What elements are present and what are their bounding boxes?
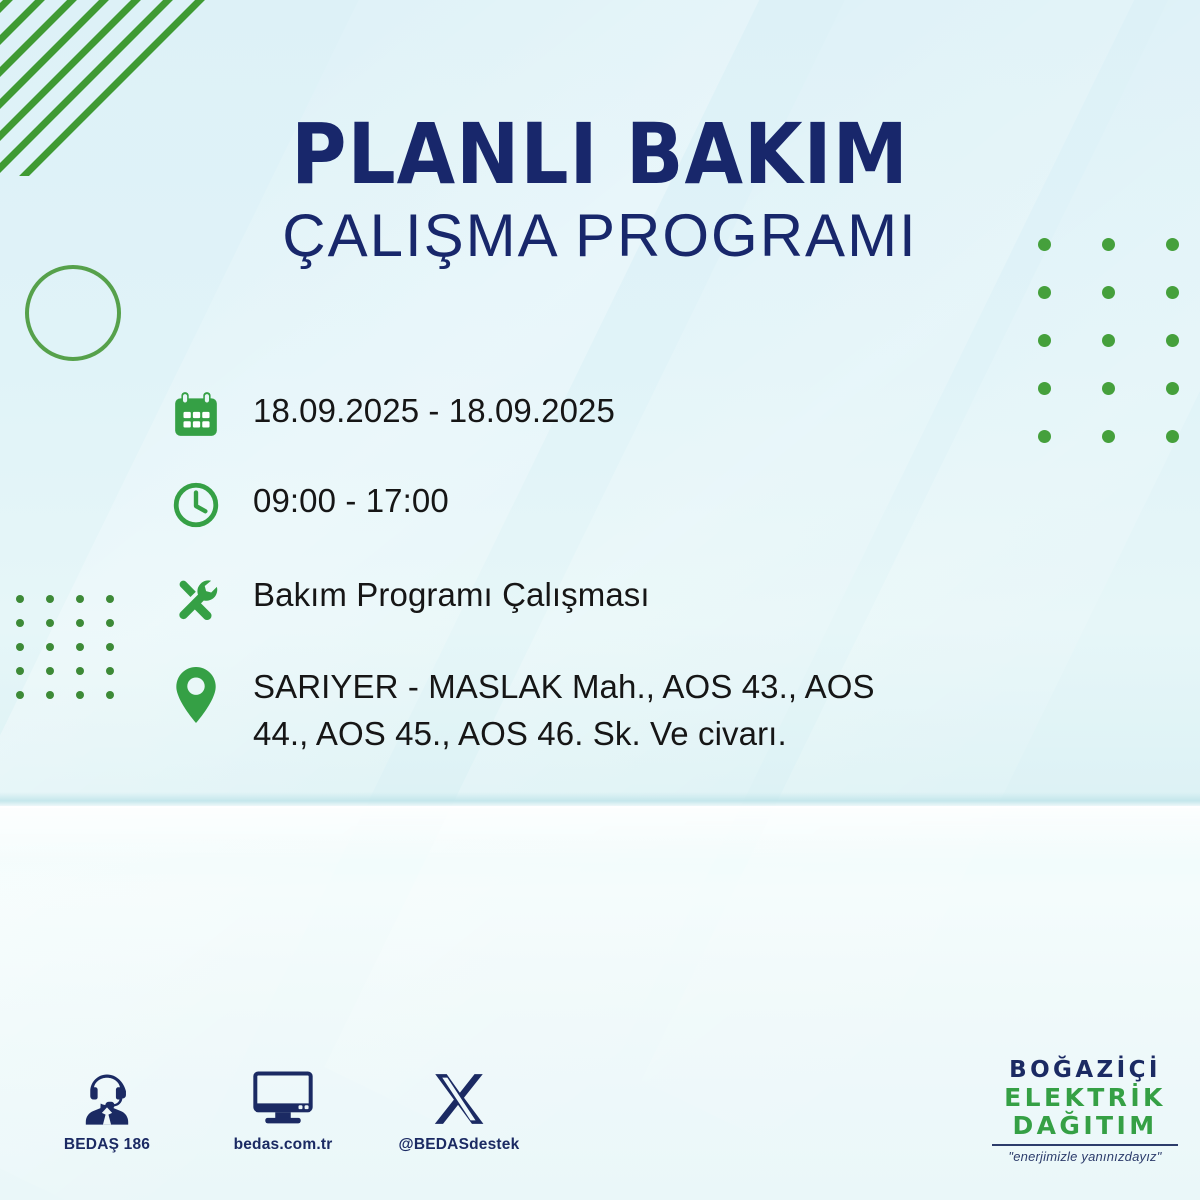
monitor-icon — [222, 1068, 344, 1130]
background-horizon-band — [0, 792, 1200, 808]
info-row-worktype-value: Bakım Programı Çalışması — [227, 572, 650, 619]
location-pin-icon — [165, 664, 227, 724]
info-row-date-value: 18.09.2025 - 18.09.2025 — [227, 388, 615, 435]
support-agent-headset-icon — [46, 1068, 168, 1130]
circle-outline-decoration — [25, 265, 121, 361]
brand-line-elektrik: ELEKTRİK — [978, 1084, 1192, 1112]
info-list: 18.09.2025 - 18.09.2025 09:00 - 17:00 — [165, 388, 965, 792]
contact-phone-label: BEDAŞ 186 — [46, 1136, 168, 1154]
info-row-location: SARIYER - MASLAK Mah., AOS 43., AOS 44.,… — [165, 664, 965, 758]
footer-contacts: BEDAŞ 186 bedas.com.tr @B — [46, 1068, 520, 1154]
info-row-date: 18.09.2025 - 18.09.2025 — [165, 388, 965, 440]
brand-logo: BOĞAZİÇİ ELEKTRİK DAĞITIM "enerjimizle y… — [978, 1058, 1192, 1164]
poster-title-block: PLANLI BAKIM ÇALIŞMA PROGRAMI — [0, 112, 1200, 267]
dot-grid-right-decoration — [1038, 238, 1200, 478]
info-row-time: 09:00 - 17:00 — [165, 478, 965, 530]
poster-canvas: PLANLI BAKIM ÇALIŞMA PROGRAMI — [0, 0, 1200, 1200]
contact-x-handle-label: @BEDASdestek — [398, 1136, 520, 1154]
contact-website[interactable]: bedas.com.tr — [222, 1068, 344, 1154]
page-title: PLANLI BAKIM — [0, 112, 1200, 198]
contact-website-label: bedas.com.tr — [222, 1136, 344, 1154]
brand-tagline: "enerjimizle yanınızdayız" — [978, 1149, 1192, 1164]
page-subtitle: ÇALIŞMA PROGRAMI — [0, 204, 1200, 267]
brand-line-dagitim: DAĞITIM — [978, 1112, 1192, 1140]
clock-icon — [165, 478, 227, 530]
x-twitter-icon — [398, 1068, 520, 1130]
background-horizon-glow — [0, 806, 1200, 866]
brand-divider — [992, 1144, 1178, 1146]
dot-grid-left-decoration — [16, 595, 136, 715]
contact-phone[interactable]: BEDAŞ 186 — [46, 1068, 168, 1154]
calendar-icon — [165, 388, 227, 440]
brand-line-bogazici: BOĞAZİÇİ — [978, 1058, 1192, 1084]
contact-x-handle[interactable]: @BEDASdestek — [398, 1068, 520, 1154]
tools-icon — [165, 572, 227, 624]
info-row-location-value: SARIYER - MASLAK Mah., AOS 43., AOS 44.,… — [227, 664, 917, 758]
info-row-time-value: 09:00 - 17:00 — [227, 478, 449, 525]
info-row-worktype: Bakım Programı Çalışması — [165, 572, 965, 624]
